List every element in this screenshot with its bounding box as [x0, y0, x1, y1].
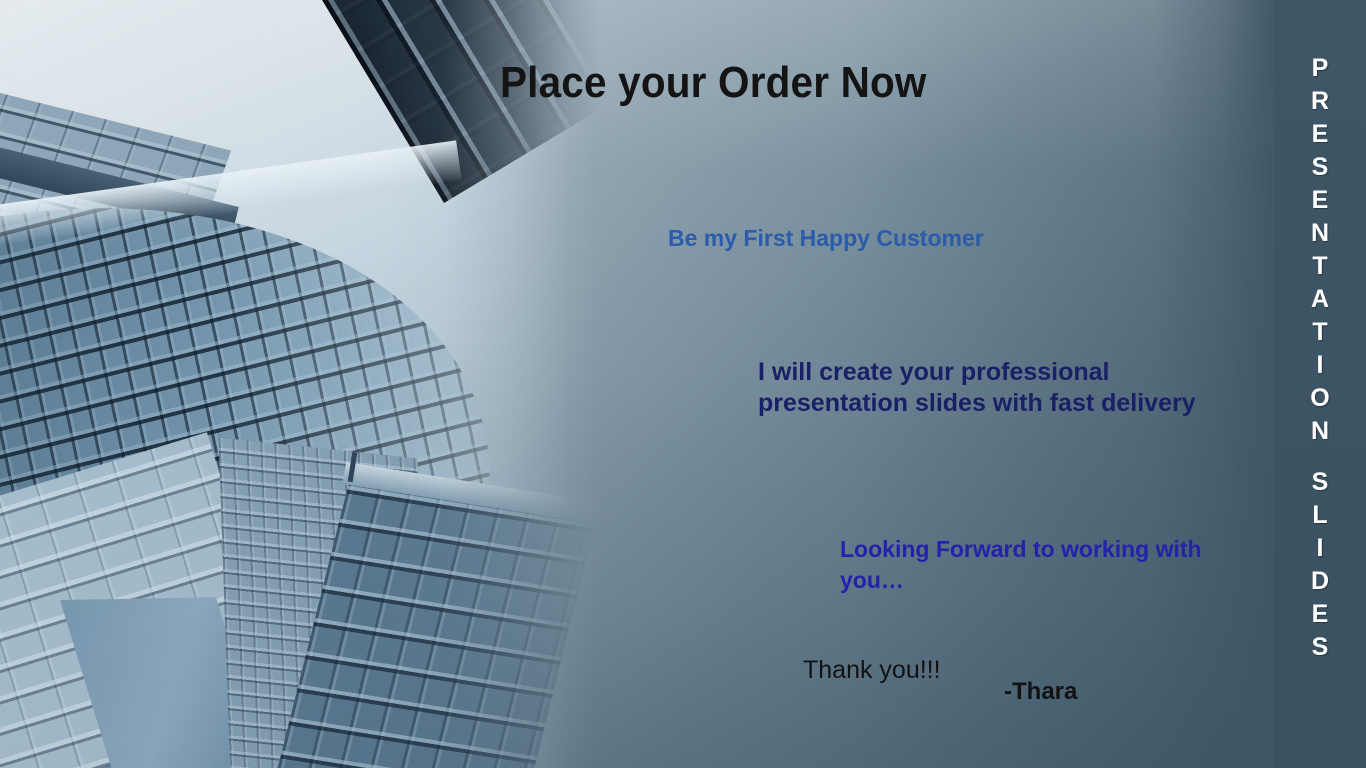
banner-letter: A	[1311, 283, 1329, 316]
offer-line-2: presentation slides with fast delivery	[758, 388, 1228, 419]
photo-color-tint	[0, 0, 600, 768]
banner-letter: S	[1312, 631, 1329, 664]
tagline-text: Be my First Happy Customer	[668, 225, 984, 252]
side-banner-letters: P R E S E N T A T I O N S L I D E S	[1274, 52, 1366, 664]
banner-letter: N	[1311, 415, 1329, 448]
banner-letter: R	[1311, 85, 1329, 118]
offer-text-block: I will create your professional presenta…	[758, 357, 1228, 419]
banner-letter: L	[1312, 499, 1327, 532]
banner-letter: I	[1317, 532, 1324, 565]
closing-line-2: you…	[840, 565, 1260, 596]
presentation-slide: P R E S E N T A T I O N S L I D E S Plac…	[0, 0, 1366, 768]
closing-text-block: Looking Forward to working with you…	[840, 534, 1260, 596]
banner-letter: D	[1311, 565, 1329, 598]
banner-letter: P	[1312, 52, 1329, 85]
banner-letter: O	[1310, 382, 1329, 415]
closing-line-1: Looking Forward to working with	[840, 534, 1260, 565]
banner-letter: E	[1312, 184, 1329, 217]
thank-you-text: Thank you!!!	[803, 656, 941, 685]
banner-letter: N	[1311, 217, 1329, 250]
signature-text: -Thara	[1004, 678, 1077, 706]
banner-letter: T	[1312, 250, 1327, 283]
skyscraper-photo	[0, 0, 600, 768]
banner-letter: E	[1312, 598, 1329, 631]
slide-title: Place your Order Now	[500, 58, 927, 108]
banner-letter: T	[1312, 316, 1327, 349]
banner-letter: S	[1312, 151, 1329, 184]
offer-line-1: I will create your professional	[758, 357, 1228, 388]
banner-letter: I	[1317, 349, 1324, 382]
banner-letter: S	[1312, 466, 1329, 499]
banner-letter: E	[1312, 118, 1329, 151]
